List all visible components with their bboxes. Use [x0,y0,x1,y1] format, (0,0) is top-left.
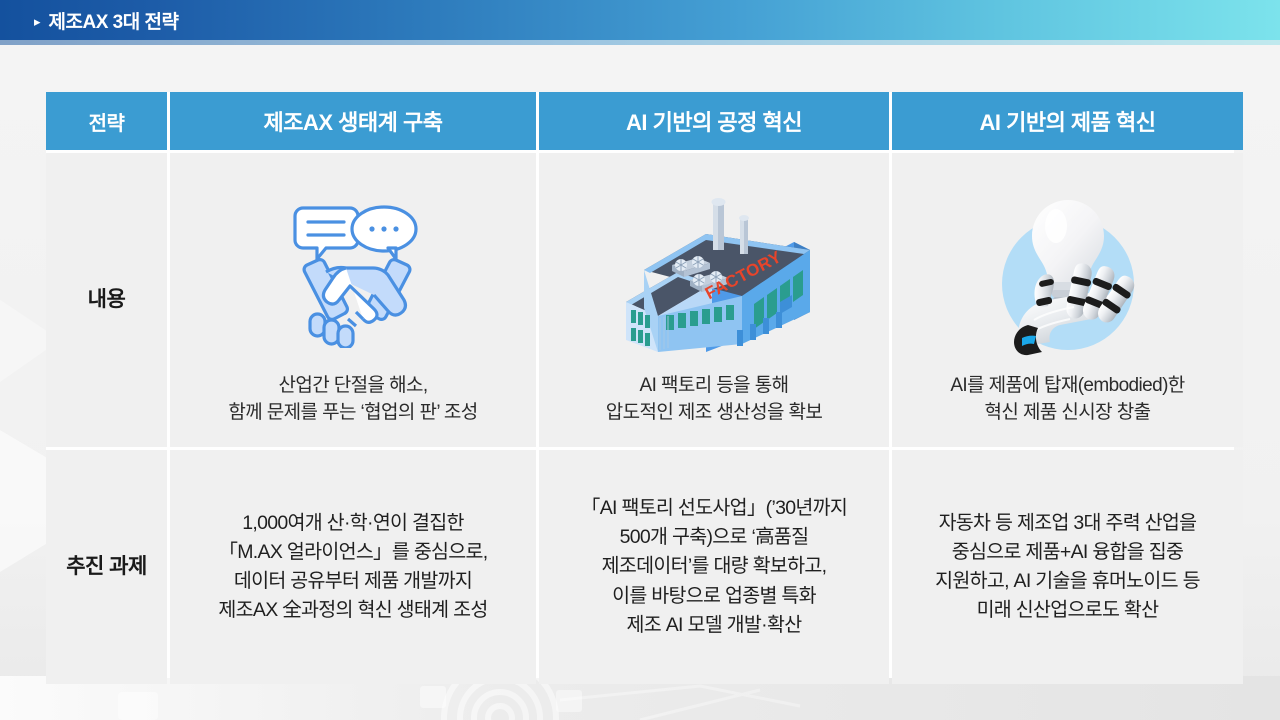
slide-title-group: ▸ 제조AX 3대 전략 [34,0,178,40]
table-header-product-innovation: AI 기반의 제품 혁신 [892,92,1243,150]
task-text-product: 자동차 등 제조업 3대 주력 산업을 중심으로 제품+AI 융합을 집중 지원… [935,509,1200,626]
robot-hand-lightbulb-icon-wrap [892,171,1243,373]
task-text-ecosystem: 1,000여개 산·학·연이 결집한 「M.AX 얼라이언스」를 중심으로, 데… [218,509,487,626]
cell-task-ecosystem: 1,000여개 산·학·연이 결집한 「M.AX 얼라이언스」를 중심으로, 데… [170,450,536,684]
table-header-ecosystem: 제조AX 생태계 구축 [170,92,536,150]
cell-text-product: AI를 제품에 탑재(embodied)한 혁신 제품 신시장 창출 [944,373,1190,447]
page-title: 제조AX 3대 전략 [49,7,179,34]
factory-building-icon: FACTORY [614,192,814,352]
cell-content-ecosystem: 산업간 단절을 해소, 함께 문제를 푸는 ‘협업의 판’ 조성 [170,153,536,447]
strategy-table: 전략 제조AX 생태계 구축 AI 기반의 공정 혁신 AI 기반의 제품 혁신… [46,92,1234,678]
table-header-strategy: 전략 [46,92,167,150]
handshake-speech-bubbles-icon-wrap [170,171,536,373]
cell-content-process: FACTORY AI 팩토리 등을 통해 압도적인 제조 생산성을 확보 [539,153,889,447]
row-label-tasks: 추진 과제 [46,450,167,684]
title-bar-underline [0,40,1280,45]
handshake-speech-bubbles-icon [278,196,428,348]
table-header-process-innovation: AI 기반의 공정 혁신 [539,92,889,150]
caret-right-icon: ▸ [34,15,41,28]
cell-content-product: AI를 제품에 탑재(embodied)한 혁신 제품 신시장 창출 [892,153,1243,447]
row-label-content: 내용 [46,153,167,447]
robot-hand-lightbulb-icon [982,186,1154,358]
cell-task-product: 자동차 등 제조업 3대 주력 산업을 중심으로 제품+AI 융합을 집중 지원… [892,450,1243,684]
cell-text-ecosystem: 산업간 단절을 해소, 함께 문제를 푸는 ‘협업의 판’ 조성 [222,373,483,447]
cell-task-process: 「AI 팩토리 선도사업」(’30년까지 500개 구축)으로 ‘高품질 제조데… [539,450,889,684]
task-text-process: 「AI 팩토리 선도사업」(’30년까지 500개 구축)으로 ‘高품질 제조데… [581,494,847,640]
factory-building-icon-wrap: FACTORY [539,171,889,373]
slide-title-bar: ▸ 제조AX 3대 전략 [0,0,1280,40]
cell-text-process: AI 팩토리 등을 통해 압도적인 제조 생산성을 확보 [600,373,829,447]
